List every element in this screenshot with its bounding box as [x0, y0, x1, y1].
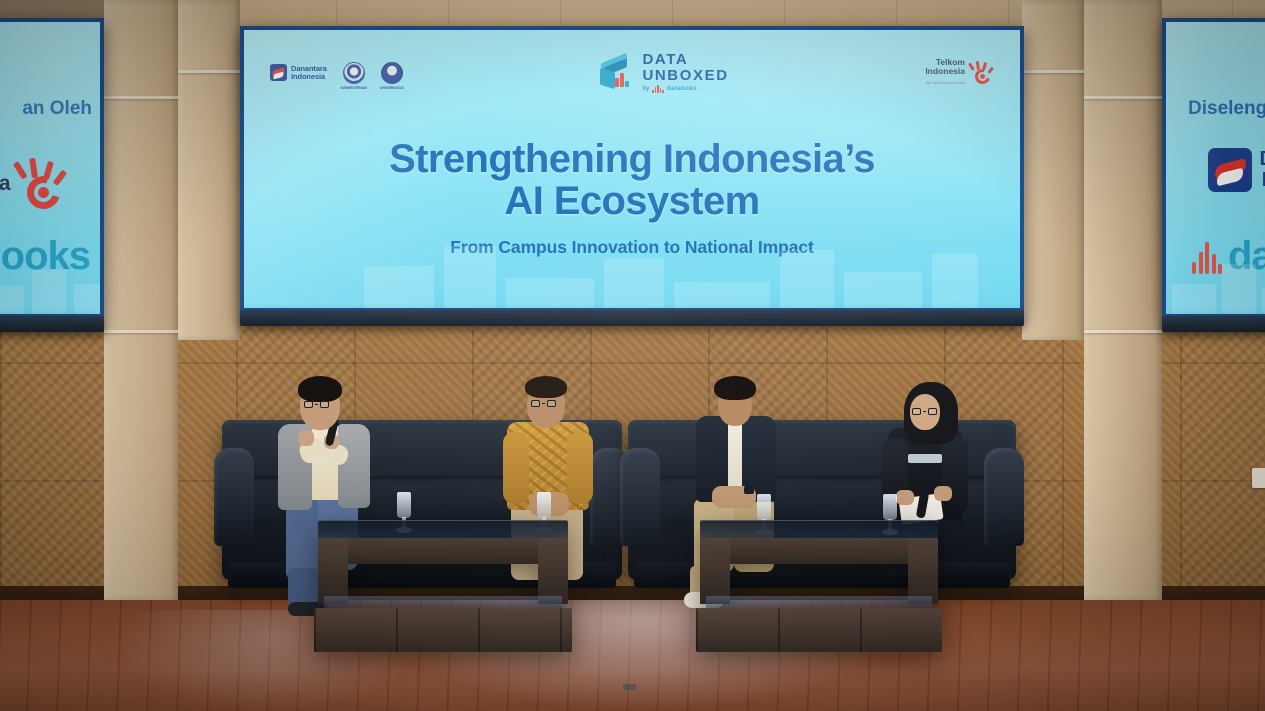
brand-word-unboxed: UNBOXED [642, 68, 728, 83]
power-outlet [1252, 468, 1265, 488]
slide-cityscape-graphic [244, 218, 1020, 308]
brand-byline-databoks: databoks [667, 86, 697, 93]
danantara-right-line2: Indonesia [1260, 170, 1265, 191]
telkom-hand-icon-center [970, 61, 994, 85]
p2-glasses-icon [531, 400, 556, 407]
danantara-logo-right: Danantara Indonesia [1208, 148, 1265, 192]
slide-title-line2: AI Ecosystem [244, 180, 1020, 222]
danantara-right-line1: Danantara [1260, 149, 1265, 170]
brand-word-data: DATA [642, 52, 728, 67]
wall-pilaster-far-left [104, 0, 178, 600]
telkom-line1: Telkom [0, 148, 11, 172]
p4-glasses-icon [912, 408, 937, 415]
slide-header-row: Danantara Indonesia KEMENTERIAN UNIVERSI… [270, 52, 994, 93]
left-slide-cityscape [0, 224, 100, 314]
p2-hair [525, 376, 567, 398]
stage-scene: an Oleh Telkom Indonesia the world in yo… [0, 0, 1265, 711]
stage-floor [0, 600, 1265, 711]
wall-pilaster-left [178, 0, 240, 340]
p1-blazer-right [338, 424, 370, 508]
p4-chest-logo [908, 454, 942, 463]
telkom-line2: Indonesia [0, 172, 11, 196]
right-slide-cityscape [1166, 224, 1265, 314]
telkom-tagline: the world in your hand [0, 200, 11, 224]
left-slide-heading: an Oleh [0, 98, 100, 120]
danantara-mark-icon [270, 64, 287, 81]
danantara-mark-icon-right [1208, 148, 1252, 192]
institution-seal-2-caption: UNIVERSITAS [380, 86, 404, 90]
p2-arm-left [503, 432, 529, 504]
wall-pilaster-right [1022, 0, 1084, 340]
danantara-logo: Danantara Indonesia [270, 64, 327, 81]
right-slide-heading: Diselengg [1166, 98, 1265, 120]
left-screen-bezel [0, 316, 104, 332]
right-screen-bezel [1162, 316, 1265, 332]
floor-object [623, 684, 636, 690]
coffee-table-left [318, 520, 568, 652]
telkom-center-tagline: the world in your hand [925, 78, 965, 87]
p4-arm-right [942, 436, 968, 514]
coffee-table-right [700, 520, 938, 652]
led-screen-center: Danantara Indonesia KEMENTERIAN UNIVERSI… [240, 26, 1024, 312]
institution-seal-2-icon: UNIVERSITAS [381, 62, 403, 84]
right-slide: Diselengg Danantara Indonesia [1166, 22, 1265, 314]
left-slide-logo: Telkom Indonesia the world in your hand [0, 148, 100, 224]
led-screen-center-panel: Danantara Indonesia KEMENTERIAN UNIVERSI… [244, 30, 1020, 308]
p3-hair [714, 376, 756, 400]
data-unboxed-logo: DATA UNBOXED by databoks [599, 52, 728, 93]
telkom-logo-left: Telkom Indonesia the world in your hand [0, 148, 72, 224]
led-screen-left-panel: an Oleh Telkom Indonesia the world in yo… [0, 22, 100, 314]
slide-title-line1: Strengthening Indonesia’s [244, 138, 1020, 180]
p1-hair [298, 376, 342, 402]
brand-byline-prefix: by [642, 86, 649, 93]
slide-partner-logos: Danantara Indonesia KEMENTERIAN UNIVERSI… [270, 62, 403, 84]
p4-hand-right [934, 486, 952, 501]
led-screen-right: Diselengg Danantara Indonesia [1162, 18, 1265, 318]
right-slide-logo: Danantara Indonesia [1166, 148, 1265, 192]
p1-hand-left [298, 430, 314, 446]
left-slide: an Oleh Telkom Indonesia the world in yo… [0, 22, 100, 314]
databoks-bars-icon [652, 85, 664, 93]
telkom-hand-icon [16, 158, 72, 214]
wall-pilaster-far-right [1084, 0, 1162, 600]
p3-wristwatch [744, 486, 754, 494]
led-screen-left: an Oleh Telkom Indonesia the world in yo… [0, 18, 104, 318]
center-screen-bezel [240, 310, 1024, 326]
unboxed-box-icon [599, 57, 635, 89]
telkom-center-line2: Indonesia [925, 67, 965, 76]
danantara-line2: Indonesia [291, 73, 327, 81]
led-screen-right-panel: Diselengg Danantara Indonesia [1166, 22, 1265, 314]
institution-seal-1-icon: KEMENTERIAN [343, 62, 365, 84]
p2-arm-right [567, 432, 593, 504]
telkom-logo-center: Telkom Indonesia the world in your hand [925, 58, 994, 87]
institution-seal-1-caption: KEMENTERIAN [341, 86, 367, 90]
p4-hand-left [896, 490, 914, 505]
p1-glasses-icon [304, 401, 329, 408]
